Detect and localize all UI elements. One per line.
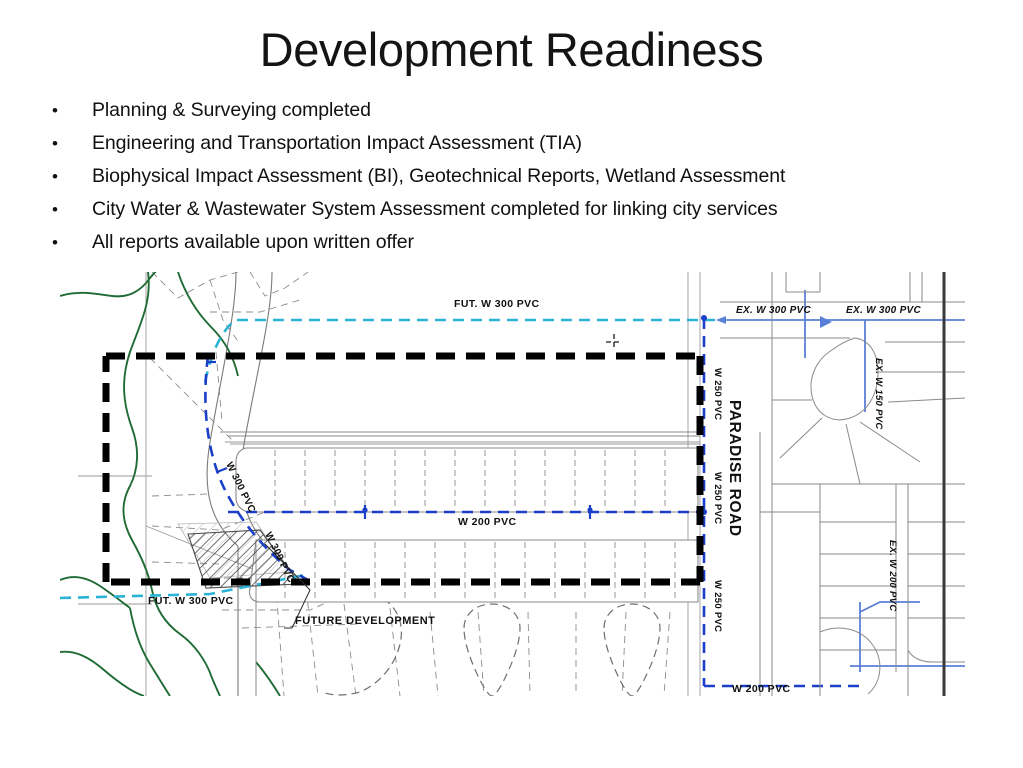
list-item-label: City Water & Wastewater System Assessmen… (92, 193, 992, 226)
label-ex-w-300-pvc-left: EX. W 300 PVC (736, 305, 812, 316)
list-item-label: Biophysical Impact Assessment (BI), Geot… (92, 160, 992, 193)
label-w-250-pvc-a: W 250 PVC (712, 368, 723, 420)
label-fut-w-300-pvc-bottom: FUT. W 300 PVC (148, 595, 234, 607)
label-w-200-pvc-mid: W 200 PVC (458, 516, 516, 528)
label-ex-w-200-pvc: EX. W 200 PVC (887, 540, 898, 611)
list-item-label: Engineering and Transportation Impact As… (92, 127, 992, 160)
label-w-250-pvc-c: W 250 PVC (712, 580, 723, 632)
list-item: • City Water & Wastewater System Assessm… (52, 193, 992, 226)
label-ex-w-150-pvc: EX. W 150 PVC (873, 358, 884, 429)
label-future-development: FUTURE DEVELOPMENT (295, 615, 435, 627)
site-plan-svg: FUT. W 300 PVC EX. W 300 PVC EX. W 300 P… (60, 272, 965, 696)
label-paradise-road: PARADISE ROAD (726, 400, 743, 537)
page-title: Development Readiness (0, 22, 1023, 78)
list-item: • Planning & Surveying completed (52, 94, 992, 127)
label-fut-w-300-pvc-top: FUT. W 300 PVC (454, 298, 540, 310)
label-w-250-pvc-b: W 250 PVC (712, 472, 723, 524)
bullet-icon: • (52, 127, 92, 160)
label-ex-w-300-pvc-right: EX. W 300 PVC (846, 305, 922, 316)
list-item-label: All reports available upon written offer (92, 226, 992, 259)
lot-block-upper (236, 448, 698, 512)
site-servicing-plan-image: FUT. W 300 PVC EX. W 300 PVC EX. W 300 P… (60, 272, 965, 696)
bullet-icon: • (52, 226, 92, 259)
list-item: • Biophysical Impact Assessment (BI), Ge… (52, 160, 992, 193)
list-item: • All reports available upon written off… (52, 226, 992, 259)
bullet-icon: • (52, 94, 92, 127)
bullet-list: • Planning & Surveying completed • Engin… (52, 94, 992, 259)
slide-canvas: Development Readiness • Planning & Surve… (0, 0, 1023, 768)
bullet-icon: • (52, 160, 92, 193)
label-w-200-pvc-bottom: W 200 PVC (732, 683, 790, 695)
list-item: • Engineering and Transportation Impact … (52, 127, 992, 160)
bullet-icon: • (52, 193, 92, 226)
list-item-label: Planning & Surveying completed (92, 94, 992, 127)
